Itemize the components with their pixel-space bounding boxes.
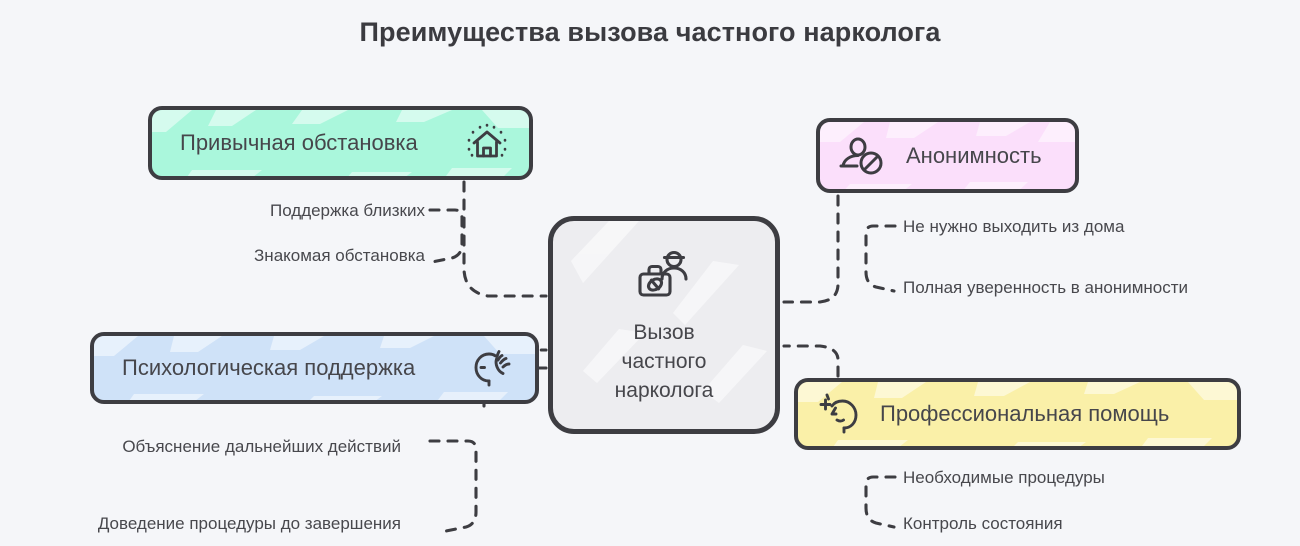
- branch-label-prof: Профессиональная помощь: [880, 401, 1169, 427]
- branch-node-habit[interactable]: Привычная обстановка: [148, 106, 533, 180]
- link-anon-leaves: [866, 226, 895, 291]
- leaf-habit-1: Знакомая обстановка: [254, 246, 425, 266]
- branch-label-habit: Привычная обстановка: [180, 130, 418, 156]
- link-prof-to-center: [784, 346, 838, 376]
- head-medical-cross-icon: [814, 392, 862, 436]
- center-label: Вызов частного нарколога: [615, 318, 714, 405]
- leaf-anon-1: Полная уверенность в анонимности: [903, 278, 1188, 298]
- leaf-habit-0: Поддержка близких: [270, 201, 425, 221]
- leaf-anon-0: Не нужно выходить из дома: [903, 217, 1124, 237]
- doctor-with-medical-bag-icon: [633, 246, 695, 304]
- leaf-psy-0: Объяснение дальнейших действий: [122, 437, 401, 457]
- link-prof-leaves: [866, 477, 895, 527]
- branch-node-anon[interactable]: Анонимность: [816, 118, 1079, 193]
- leaf-prof-1: Контроль состояния: [903, 514, 1063, 534]
- leaf-prof-0: Необходимые процедуры: [903, 468, 1105, 488]
- leaf-psy-1: Доведение процедуры до завершения: [98, 514, 401, 534]
- head-support-hand-icon: [469, 347, 517, 389]
- branch-node-psy[interactable]: Психологическая поддержка: [90, 332, 539, 404]
- person-no-entry-icon: [838, 135, 886, 177]
- home-sparkle-icon: [465, 122, 509, 164]
- branch-label-anon: Анонимность: [906, 143, 1042, 169]
- branch-node-prof[interactable]: Профессиональная помощь: [794, 378, 1241, 450]
- link-anon-to-center: [784, 196, 838, 302]
- branch-label-psy: Психологическая поддержка: [122, 355, 415, 381]
- link-habit-to-center: [464, 182, 546, 296]
- link-psy-leaves: [430, 441, 476, 531]
- center-node[interactable]: Вызов частного нарколога: [548, 216, 780, 434]
- link-habit-leaves: [430, 210, 462, 262]
- mindmap-canvas: Преимущества вызова частного нарколога: [0, 0, 1300, 546]
